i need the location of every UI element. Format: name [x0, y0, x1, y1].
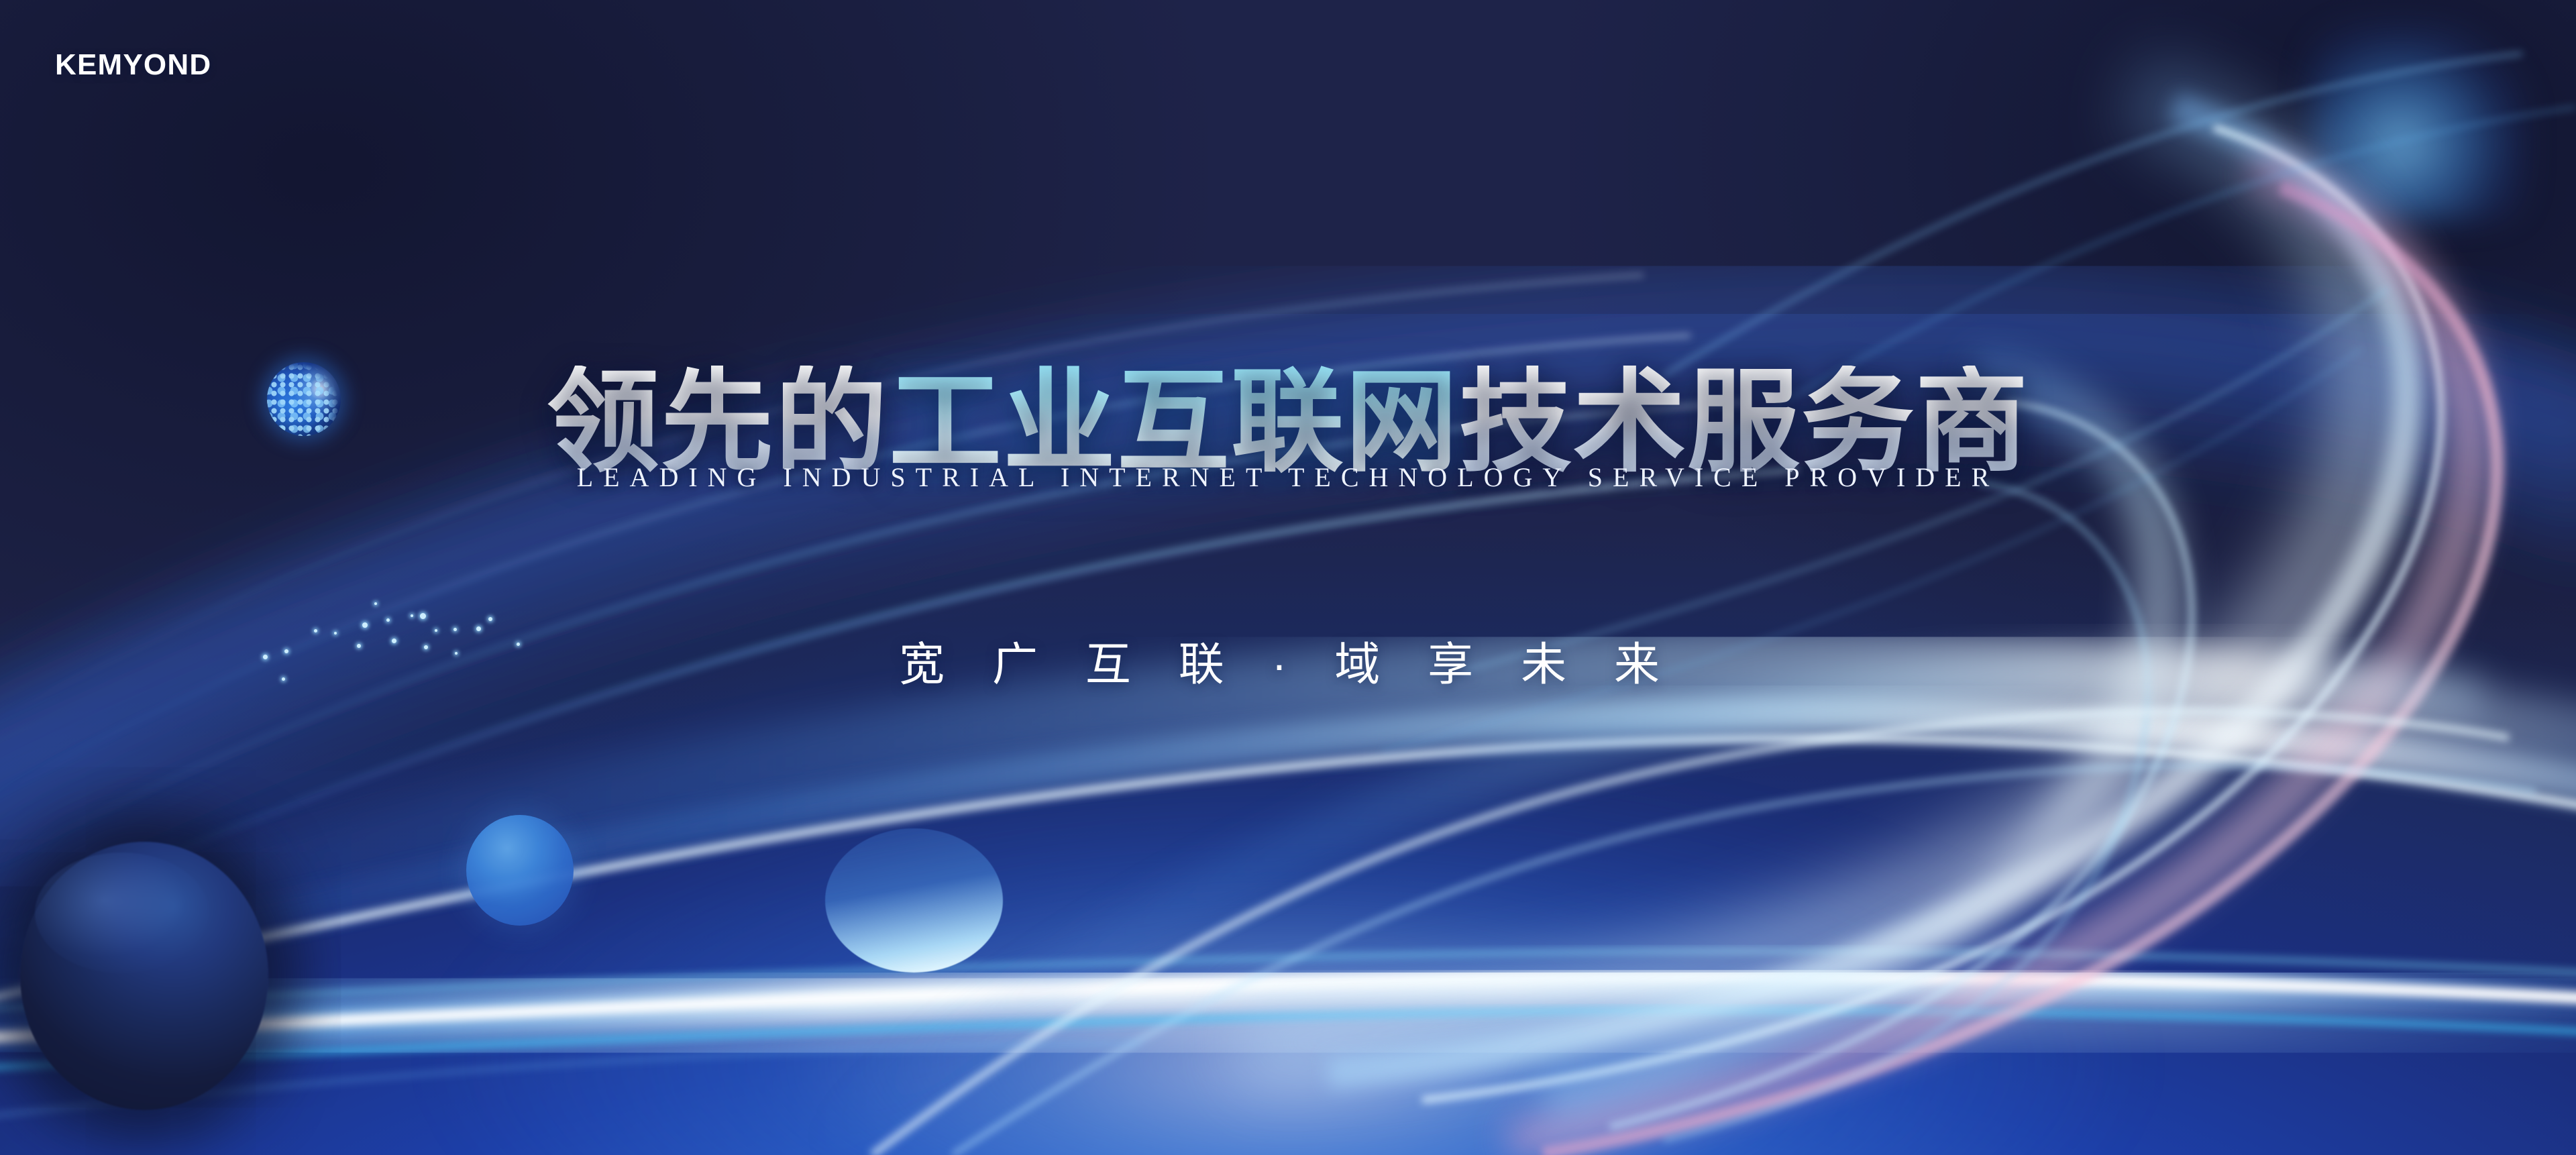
brand-logo[interactable]: KEMYOND [55, 48, 211, 82]
content-layer: KEMYOND 领先的工业互联网技术服务商 LEADING INDUSTRIAL… [0, 0, 2576, 1155]
headline-subtitle: LEADING INDUSTRIAL INTERNET TECHNOLOGY S… [0, 461, 2576, 493]
banner-canvas: KEMYOND 领先的工业互联网技术服务商 LEADING INDUSTRIAL… [0, 0, 2576, 1155]
brand-tagline: 宽 广 互 联 · 域 享 未 来 [0, 627, 2576, 694]
